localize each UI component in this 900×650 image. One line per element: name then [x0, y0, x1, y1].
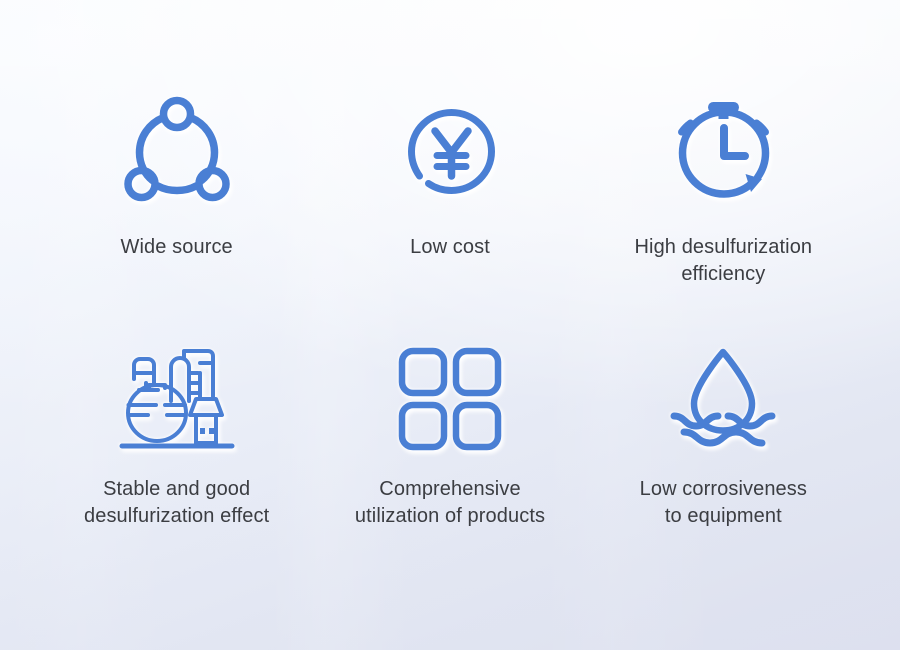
- feature-item-comprehensive-utilization-of-products[interactable]: Comprehensive utilization of products: [313, 340, 586, 588]
- feature-label: Comprehensive utilization of products: [355, 476, 545, 530]
- feature-grid: Wide source Low cost: [0, 0, 900, 650]
- feature-label: High desulfurization efficiency: [635, 234, 813, 288]
- water-droplet-waves-icon: [668, 340, 778, 458]
- feature-item-low-cost[interactable]: Low cost: [313, 92, 586, 340]
- feature-item-stable-and-good-desulfurization-effect[interactable]: Stable and good desulfurization effect: [40, 340, 313, 588]
- network-nodes-icon: [117, 92, 237, 212]
- feature-item-high-desulfurization-efficiency[interactable]: High desulfurization efficiency: [587, 92, 860, 340]
- feature-item-wide-source[interactable]: Wide source: [40, 92, 313, 340]
- alarm-clock-arrow-icon: [663, 92, 783, 212]
- feature-label: Low corrosiveness to equipment: [640, 476, 807, 530]
- chemical-plant-icon: [112, 340, 242, 458]
- feature-item-low-corrosiveness-to-equipment[interactable]: Low corrosiveness to equipment: [587, 340, 860, 588]
- yen-currency-circle-icon: [390, 92, 510, 212]
- feature-label: Stable and good desulfurization effect: [84, 476, 269, 530]
- grid-four-squares-icon: [396, 340, 504, 458]
- feature-label: Low cost: [410, 234, 490, 261]
- feature-grid-page: Wide source Low cost: [0, 0, 900, 650]
- feature-label: Wide source: [121, 234, 233, 261]
